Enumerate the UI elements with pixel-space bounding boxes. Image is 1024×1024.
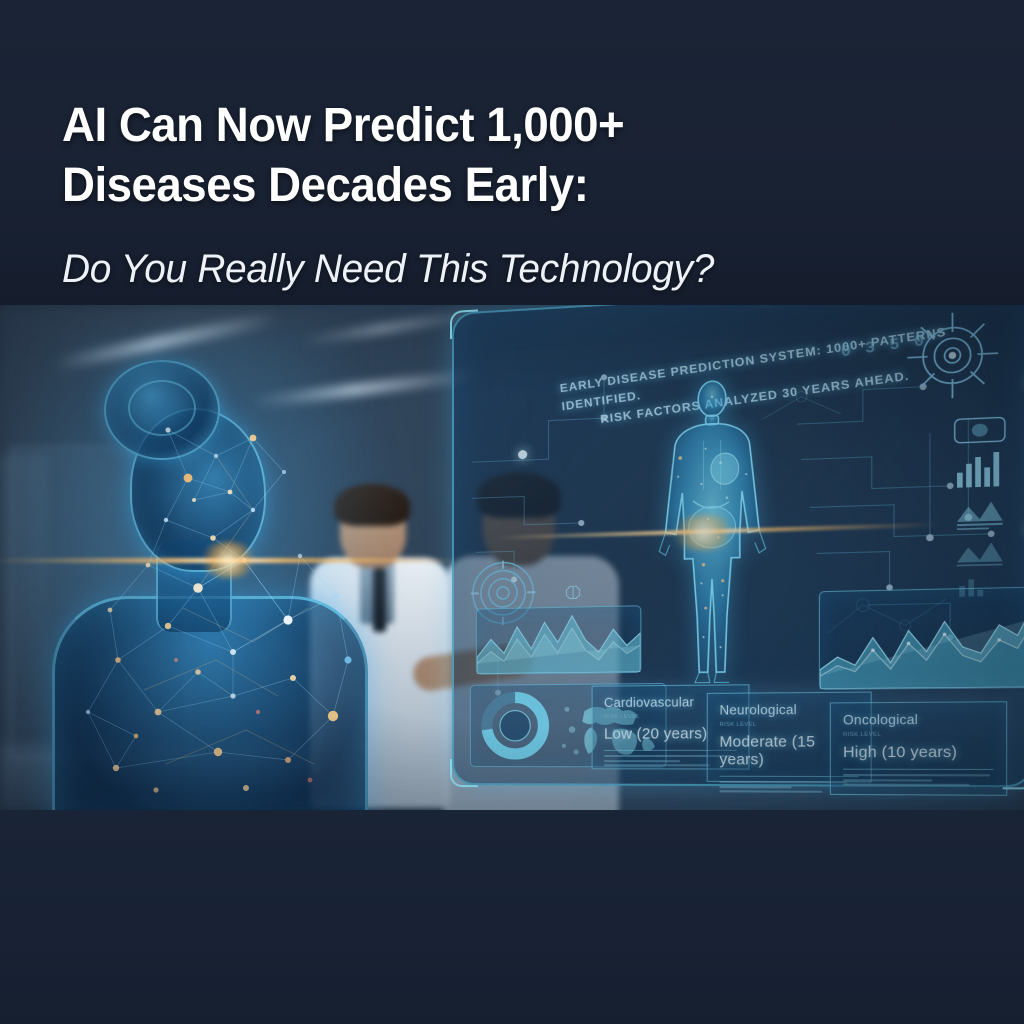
wireframe-human-figure [48,360,378,810]
brain-icon [564,583,582,602]
donut-chart-icon [487,697,544,754]
mini-chart-card[interactable] [476,605,641,675]
risk-category: Oncological [843,712,993,729]
holo-corner [450,759,478,787]
footer-band [0,810,1024,1024]
holo-corner [1003,759,1024,789]
metrics-icon-stack [950,414,1024,601]
risk-trend-area-chart [820,588,1024,689]
holo-corner [450,309,478,339]
poster-canvas: AI Can Now Predict 1,000+ Diseases Decad… [0,0,1024,1024]
risk-trend-chart-card[interactable] [819,587,1024,690]
hero-image: EARLY DISEASE PREDICTION SYSTEM: 1000+ P… [0,305,1024,810]
bar-chart-icons [950,414,1024,601]
risk-level: High (10 years) [843,744,993,762]
mini-area-chart [477,606,640,673]
risk-detail-lines [843,774,993,786]
page-title: AI Can Now Predict 1,000+ Diseases Decad… [62,96,962,216]
neural-network-overlay [48,360,378,810]
page-subtitle: Do You Really Need This Technology? [62,243,954,295]
title-line-1: AI Can Now Predict 1,000+ [62,96,917,156]
lens-flare-core [198,542,258,578]
holographic-display[interactable]: EARLY DISEASE PREDICTION SYSTEM: 1000+ P… [452,305,1024,787]
risk-sublabel: RISK LEVEL [843,731,993,739]
header-band: AI Can Now Predict 1,000+ Diseases Decad… [0,0,1024,305]
divider [843,769,993,770]
risk-panel-oncological[interactable]: Oncological RISK LEVEL High (10 years) [830,701,1007,796]
anatomical-body-hologram [638,372,787,687]
title-line-2: Diseases Decades Early: [62,156,917,216]
crosshair-target-icon [905,308,1000,403]
